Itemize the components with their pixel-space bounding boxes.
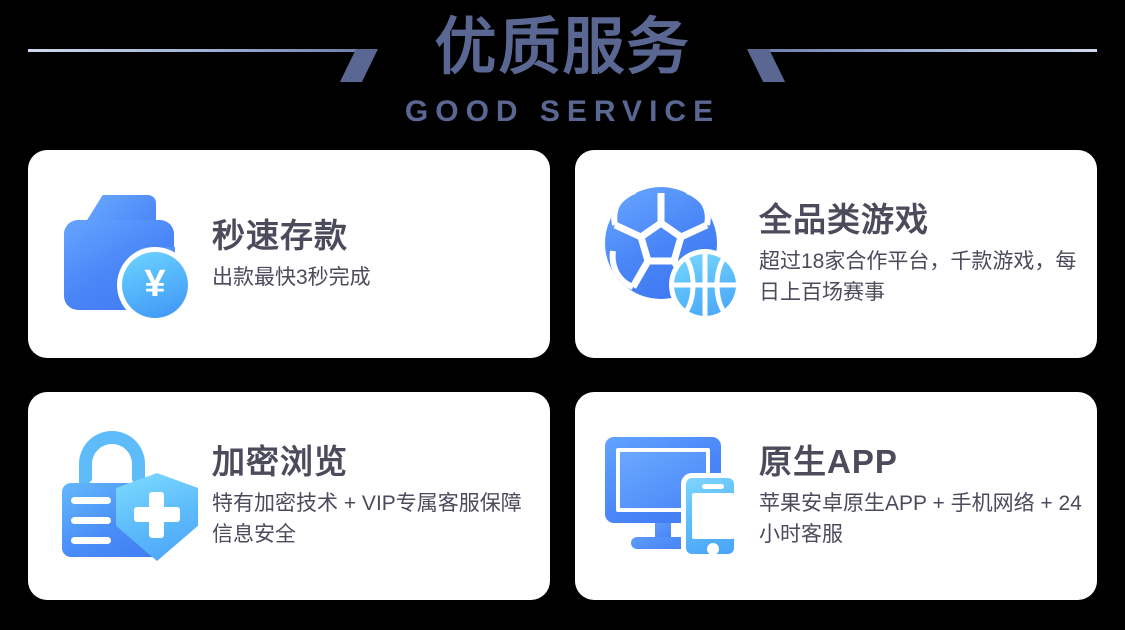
phone-speaker-shape [702, 484, 724, 489]
card-icon-slot [54, 421, 204, 571]
lock-slot-shape [71, 537, 111, 544]
lock-slot-shape [71, 517, 111, 524]
card-description: 特有加密技术 + VIP专属客服保障信息安全 [212, 488, 536, 550]
basketball-icon [674, 254, 736, 316]
lock-slot-shape [71, 497, 111, 504]
phone-home-button-shape [707, 543, 719, 555]
card-title: 加密浏览 [212, 442, 536, 482]
promo-banner: 优质服务 GOOD SERVICE ¥ 秒速存款 出款最快3秒 [0, 0, 1125, 630]
card-title: 全品类游戏 [759, 200, 1083, 240]
plus-icon [149, 492, 164, 538]
soccer-basketball-icon [605, 187, 749, 321]
yuan-symbol: ¥ [144, 265, 165, 303]
page-subtitle: GOOD SERVICE [0, 95, 1125, 129]
yuan-coin-icon: ¥ [122, 252, 188, 318]
monitor-phone-icon [605, 437, 749, 559]
card-title: 原生APP [759, 442, 1083, 482]
card-icon-slot [601, 421, 751, 571]
card-icon-slot: ¥ [54, 179, 204, 329]
card-text-block: 全品类游戏 超过18家合作平台，千款游戏，每日上百场赛事 [759, 200, 1097, 308]
card-icon-slot [601, 179, 751, 329]
card-description: 苹果安卓原生APP + 手机网络 + 24小时客服 [759, 488, 1083, 550]
feature-card-encryption[interactable]: 加密浏览 特有加密技术 + VIP专属客服保障信息安全 [28, 392, 550, 600]
feature-card-grid: ¥ 秒速存款 出款最快3秒完成 [28, 150, 1097, 600]
card-text-block: 原生APP 苹果安卓原生APP + 手机网络 + 24小时客服 [759, 442, 1097, 550]
card-text-block: 秒速存款 出款最快3秒完成 [212, 216, 550, 293]
card-text-block: 加密浏览 特有加密技术 + VIP专属客服保障信息安全 [212, 442, 550, 550]
smartphone-icon [681, 473, 739, 559]
feature-card-deposit[interactable]: ¥ 秒速存款 出款最快3秒完成 [28, 150, 550, 358]
feature-card-games[interactable]: 全品类游戏 超过18家合作平台，千款游戏，每日上百场赛事 [575, 150, 1097, 358]
card-description: 超过18家合作平台，千款游戏，每日上百场赛事 [759, 246, 1083, 308]
wallet-coin-icon: ¥ [60, 195, 198, 313]
feature-card-native-app[interactable]: 原生APP 苹果安卓原生APP + 手机网络 + 24小时客服 [575, 392, 1097, 600]
phone-screen-shape [692, 493, 734, 539]
banner-header: 优质服务 GOOD SERVICE [0, 0, 1125, 140]
lock-shield-icon [62, 431, 198, 561]
page-title: 优质服务 [0, 12, 1125, 84]
card-description: 出款最快3秒完成 [212, 262, 536, 293]
card-title: 秒速存款 [212, 216, 536, 256]
